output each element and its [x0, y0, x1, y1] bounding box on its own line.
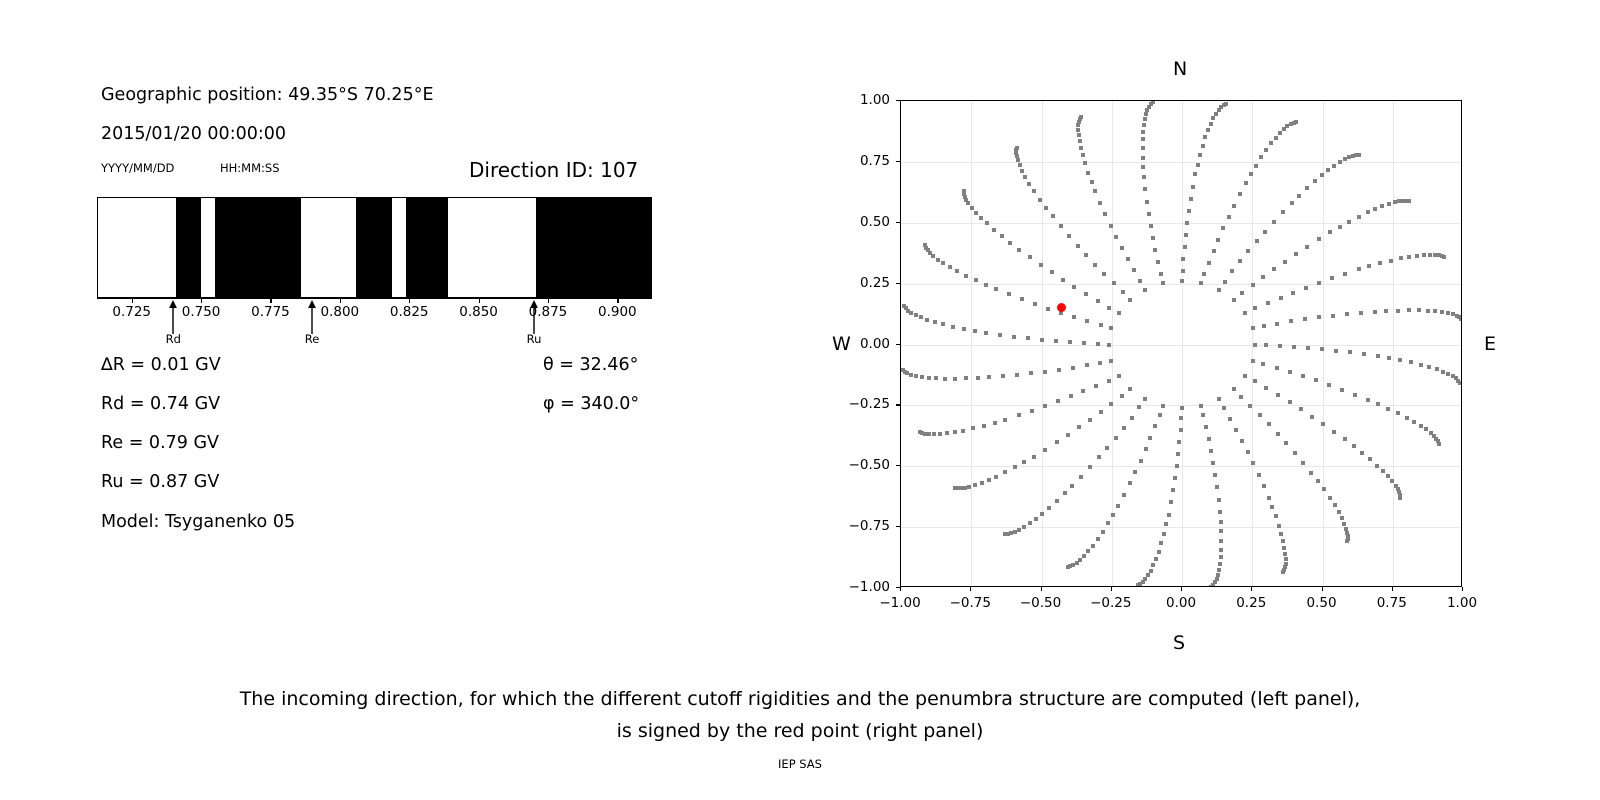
direction-point — [932, 432, 936, 436]
direction-point — [1327, 383, 1331, 387]
direction-point — [964, 376, 968, 380]
direction-point — [1281, 539, 1285, 543]
direction-point — [987, 478, 991, 482]
caption-line-2: is signed by the red point (right panel) — [0, 715, 1600, 747]
compass-label-east: E — [1484, 333, 1496, 355]
penumbra-bar-chart — [97, 197, 652, 298]
direction-point — [1121, 290, 1125, 294]
direction-point — [1215, 485, 1219, 489]
direction-point — [1028, 521, 1032, 525]
direction-point — [925, 318, 929, 322]
direction-point — [1338, 225, 1342, 229]
date-format-hint: YYYY/MM/DD — [101, 161, 174, 175]
direction-point — [1281, 570, 1285, 574]
direction-point — [1267, 496, 1271, 500]
direction-point — [1209, 122, 1213, 126]
direction-point — [971, 426, 975, 430]
direction-point — [1367, 264, 1371, 268]
direction-point — [1261, 275, 1265, 279]
direction-point — [1151, 101, 1155, 104]
direction-point — [901, 368, 905, 372]
direction-point — [1427, 365, 1431, 369]
direction-point — [1109, 402, 1113, 406]
y-axis-tick-label: 1.00 — [832, 92, 890, 108]
direction-point — [1459, 317, 1461, 321]
direction-point — [1264, 148, 1268, 152]
direction-point — [1317, 281, 1321, 285]
direction-point — [962, 189, 966, 193]
direction-point — [1253, 343, 1257, 347]
y-axis-tick — [896, 283, 900, 284]
direction-point — [1102, 272, 1106, 276]
direction-point — [1090, 180, 1094, 184]
direction-point — [1277, 524, 1281, 528]
direction-point — [1219, 555, 1223, 559]
direction-point — [1176, 452, 1180, 456]
direction-point — [1207, 261, 1211, 265]
direction-point — [1015, 373, 1019, 377]
direction-point — [1148, 436, 1152, 440]
x-axis-tick-label: 0.75 — [1377, 595, 1407, 611]
direction-point — [1218, 510, 1222, 514]
direction-point — [1289, 319, 1293, 323]
direction-point — [923, 243, 927, 247]
direction-point — [1399, 256, 1403, 260]
direction-point — [1169, 500, 1173, 504]
direction-point — [1343, 437, 1347, 441]
direction-point — [979, 216, 983, 220]
direction-point — [1012, 335, 1016, 339]
direction-point — [1143, 117, 1147, 121]
direction-point — [1264, 343, 1268, 347]
y-axis-tick-label: 0.75 — [832, 153, 890, 169]
direction-point — [1254, 164, 1258, 168]
y-axis-tick — [896, 161, 900, 162]
direction-point — [1224, 102, 1228, 106]
rigidity-marker-label-re: Re — [305, 332, 320, 346]
rigidity-marker-label-ru: Ru — [527, 332, 542, 346]
direction-point — [1288, 400, 1292, 404]
penumbra-tick-label: 0.800 — [320, 304, 359, 320]
direction-point — [1159, 541, 1163, 545]
direction-point — [1084, 253, 1088, 257]
parameter-row: Rd = 0.74 GV — [101, 394, 220, 414]
penumbra-band — [215, 198, 301, 297]
y-axis-tick-label: −1.00 — [832, 579, 890, 595]
gridline-horizontal — [901, 162, 1461, 163]
direction-point — [963, 486, 967, 490]
direction-point — [973, 329, 977, 333]
direction-point — [1141, 137, 1145, 141]
direction-point — [966, 201, 970, 205]
caption-line-1: The incoming direction, for which the di… — [0, 683, 1600, 715]
direction-point — [1034, 517, 1038, 521]
direction-point — [1292, 345, 1296, 349]
direction-point — [1173, 476, 1177, 480]
penumbra-tick — [270, 298, 271, 303]
direction-point — [953, 377, 957, 381]
penumbra-band — [176, 198, 201, 297]
footer-credit: IEP SAS — [0, 757, 1600, 771]
direction-point — [1217, 568, 1221, 572]
direction-point — [1142, 123, 1146, 127]
direction-point — [1262, 484, 1266, 488]
direction-point — [1217, 397, 1221, 401]
direction-point — [1071, 366, 1075, 370]
direction-point — [987, 375, 991, 379]
direction-point — [918, 430, 922, 434]
x-axis-tick — [970, 587, 971, 591]
direction-point — [1219, 548, 1223, 552]
direction-point — [1442, 255, 1446, 259]
direction-point — [1340, 516, 1344, 520]
direction-point — [1159, 272, 1163, 276]
direction-point — [1440, 310, 1444, 314]
direction-point — [980, 481, 984, 485]
direction-point — [1198, 153, 1202, 157]
direction-point — [1077, 133, 1081, 137]
direction-point — [1093, 189, 1097, 193]
direction-point — [1051, 214, 1055, 218]
direction-point — [1360, 451, 1364, 455]
direction-point — [1143, 288, 1147, 292]
compass-label-north: N — [1173, 58, 1187, 80]
direction-point — [1153, 248, 1157, 252]
direction-point — [1047, 506, 1051, 510]
direction-point — [1107, 343, 1111, 347]
direction-point — [1109, 326, 1113, 330]
direction-point — [1017, 413, 1021, 417]
direction-point — [1347, 220, 1351, 224]
direction-point — [1294, 252, 1298, 256]
direction-point — [1196, 163, 1200, 167]
direction-point — [1258, 413, 1262, 417]
direction-point — [1114, 235, 1118, 239]
direction-point — [1193, 172, 1197, 176]
direction-point — [1157, 550, 1161, 554]
direction-point — [1375, 464, 1379, 468]
direction-point — [1117, 374, 1121, 378]
direction-point — [1177, 440, 1181, 444]
direction-point — [1144, 112, 1148, 116]
direction-point — [1331, 314, 1335, 318]
direction-point — [1082, 341, 1086, 345]
direction-point — [1275, 366, 1279, 370]
direction-point — [982, 424, 986, 428]
direction-point — [962, 327, 966, 331]
direction-point — [1246, 249, 1250, 253]
x-axis-tick — [1041, 587, 1042, 591]
direction-point — [1162, 532, 1166, 536]
direction-point — [1415, 254, 1419, 258]
direction-point — [1279, 296, 1283, 300]
direction-point — [1282, 546, 1286, 550]
direction-point — [1015, 146, 1019, 150]
direction-point — [1272, 267, 1276, 271]
direction-point — [1061, 278, 1065, 282]
direction-point — [1251, 461, 1255, 465]
direction-point — [1255, 239, 1259, 243]
direction-point — [1086, 549, 1090, 553]
direction-point — [1083, 161, 1087, 165]
x-axis-tick-label: −0.25 — [1090, 595, 1131, 611]
direction-point — [1078, 558, 1082, 562]
polar-scatter-plot — [900, 100, 1462, 587]
direction-point — [1096, 537, 1100, 541]
direction-point — [1055, 499, 1059, 503]
direction-point — [1405, 416, 1409, 420]
direction-point — [1446, 311, 1450, 315]
direction-point — [1056, 399, 1060, 403]
direction-point — [1109, 224, 1113, 228]
direction-point — [1278, 131, 1282, 135]
direction-point — [1106, 521, 1110, 525]
direction-point — [938, 432, 942, 436]
direction-point — [1297, 194, 1301, 198]
direction-point — [1093, 263, 1097, 267]
direction-point — [1038, 198, 1042, 202]
direction-point — [1180, 279, 1184, 283]
direction-point — [1262, 324, 1266, 328]
direction-point — [1128, 298, 1132, 302]
direction-point — [1316, 479, 1320, 483]
direction-point — [1149, 569, 1153, 573]
direction-point — [1380, 204, 1384, 208]
direction-point — [1143, 397, 1147, 401]
direction-point — [1214, 112, 1218, 116]
direction-point — [994, 287, 998, 291]
direction-point — [1340, 388, 1344, 392]
x-axis-tick — [1111, 587, 1112, 591]
direction-point — [1213, 473, 1217, 477]
direction-point — [1063, 491, 1067, 495]
direction-point — [955, 269, 959, 273]
direction-point — [1276, 393, 1280, 397]
direction-point — [1398, 496, 1402, 500]
direction-point — [1223, 280, 1227, 284]
direction-point — [920, 375, 924, 379]
direction-point — [1105, 446, 1109, 450]
direction-point — [1301, 374, 1305, 378]
direction-point — [1251, 283, 1255, 287]
direction-point — [1000, 234, 1004, 238]
direction-point — [998, 333, 1002, 337]
direction-point — [1212, 249, 1216, 253]
direction-point — [1043, 404, 1047, 408]
penumbra-tick — [201, 298, 202, 303]
direction-point — [1147, 212, 1151, 216]
direction-point — [1301, 461, 1305, 465]
direction-point — [1109, 359, 1113, 363]
direction-point — [1044, 206, 1048, 210]
direction-point — [1017, 528, 1021, 532]
y-axis-tick — [896, 344, 900, 345]
direction-point — [1317, 315, 1321, 319]
parameter-row: Re = 0.79 GV — [101, 433, 219, 453]
direction-point — [1216, 238, 1220, 242]
direction-point — [1055, 440, 1059, 444]
direction-point — [1032, 189, 1036, 193]
direction-point — [927, 376, 931, 380]
direction-point — [1141, 165, 1145, 169]
penumbra-band — [356, 198, 392, 297]
direction-point — [1112, 281, 1116, 285]
direction-point — [1001, 374, 1005, 378]
direction-point — [1161, 404, 1165, 408]
direction-point — [1270, 505, 1274, 509]
direction-point — [1441, 370, 1445, 374]
y-axis-tick — [896, 587, 900, 588]
direction-point — [1096, 299, 1100, 303]
direction-point — [1154, 557, 1158, 561]
y-axis-tick-label: −0.25 — [832, 396, 890, 412]
direction-point — [1067, 234, 1071, 238]
direction-point — [1091, 544, 1095, 548]
direction-point — [1373, 207, 1377, 211]
gridline-vertical — [971, 101, 972, 586]
direction-point — [1283, 260, 1287, 264]
direction-point — [1138, 279, 1142, 283]
direction-point — [1023, 175, 1027, 179]
direction-point — [1120, 246, 1124, 250]
direction-point — [1153, 424, 1157, 428]
direction-point — [1151, 236, 1155, 240]
direction-point — [902, 304, 906, 308]
direction-point — [1409, 360, 1413, 364]
y-axis-tick-label: −0.75 — [832, 518, 890, 534]
direction-point — [1310, 415, 1314, 419]
direction-point — [1227, 215, 1231, 219]
direction-point — [953, 486, 957, 490]
direction-point — [1343, 272, 1347, 276]
y-axis-tick-label: 0.00 — [832, 336, 890, 352]
direction-point — [1187, 209, 1191, 213]
direction-point — [993, 421, 997, 425]
direction-point — [1007, 292, 1011, 296]
direction-point — [1072, 285, 1076, 289]
direction-point — [1253, 306, 1257, 310]
direction-point — [1128, 387, 1132, 391]
direction-point — [1066, 433, 1070, 437]
direction-point — [1373, 310, 1377, 314]
direction-point — [1107, 379, 1111, 383]
direction-point — [1257, 473, 1261, 477]
direction-point — [1130, 416, 1134, 420]
direction-point — [1098, 361, 1102, 365]
direction-point — [1217, 498, 1221, 502]
direction-point — [1022, 525, 1026, 529]
direction-point — [1072, 315, 1076, 319]
direction-point — [1204, 425, 1208, 429]
direction-point — [1266, 301, 1270, 305]
direction-point — [1274, 514, 1278, 518]
x-axis-tick — [1392, 587, 1393, 591]
direction-point — [1218, 562, 1222, 566]
direction-point — [1366, 398, 1370, 402]
direction-point — [1077, 425, 1081, 429]
penumbra-tick-label: 0.850 — [459, 304, 498, 320]
direction-point — [1122, 493, 1126, 497]
direction-point — [1407, 255, 1411, 259]
direction-point — [1366, 210, 1370, 214]
direction-point — [1084, 292, 1088, 296]
direction-point — [1328, 230, 1332, 234]
direction-point — [1017, 248, 1021, 252]
direction-point — [1209, 449, 1213, 453]
direction-point — [1433, 309, 1437, 313]
penumbra-tick-label: 0.725 — [112, 304, 151, 320]
direction-id-label: Direction ID: 107 — [469, 158, 638, 182]
direction-point — [1381, 469, 1385, 473]
direction-point — [1008, 241, 1012, 245]
direction-point — [1179, 428, 1183, 432]
direction-point — [1076, 244, 1080, 248]
direction-point — [1219, 539, 1223, 543]
direction-point — [1278, 344, 1282, 348]
direction-point — [1279, 532, 1283, 536]
direction-point — [1201, 413, 1205, 417]
direction-point — [1098, 201, 1102, 205]
y-axis-tick — [896, 404, 900, 405]
direction-point — [1389, 259, 1393, 263]
direction-point — [1272, 220, 1276, 224]
direction-point — [1057, 368, 1061, 372]
direction-point — [1283, 552, 1287, 556]
parameter-row: ∆R = 0.01 GV — [101, 355, 221, 375]
direction-point — [1016, 158, 1020, 162]
angle-row: θ = 32.46° — [543, 355, 638, 375]
figure-caption: The incoming direction, for which the di… — [0, 683, 1600, 747]
direction-point — [1207, 437, 1211, 441]
angle-row: φ = 340.0° — [543, 394, 639, 414]
direction-point — [1321, 422, 1325, 426]
direction-point — [1027, 182, 1031, 186]
direction-point — [1144, 447, 1148, 451]
direction-point — [1334, 349, 1338, 353]
direction-point — [1284, 441, 1288, 445]
x-axis-tick — [1462, 587, 1463, 591]
direction-point — [1251, 359, 1255, 363]
direction-point — [1164, 522, 1168, 526]
direction-point — [1261, 362, 1265, 366]
x-axis-tick-label: −0.50 — [1020, 595, 1061, 611]
direction-point — [985, 221, 989, 225]
direction-point — [1267, 422, 1271, 426]
direction-point — [1039, 263, 1043, 267]
direction-point — [1013, 530, 1017, 534]
direction-point — [967, 485, 971, 489]
direction-point — [1234, 428, 1238, 432]
direction-point — [1378, 261, 1382, 265]
direction-point — [1141, 156, 1145, 160]
compass-label-south: S — [1173, 632, 1185, 654]
x-axis-tick — [1322, 587, 1323, 591]
direction-point — [1079, 115, 1083, 119]
direction-point — [1368, 457, 1372, 461]
direction-point — [1345, 312, 1349, 316]
direction-point — [1185, 221, 1189, 225]
direction-point — [1082, 554, 1086, 558]
direction-point — [984, 331, 988, 335]
x-axis-tick-label: −1.00 — [879, 595, 920, 611]
penumbra-tick — [409, 298, 410, 303]
direction-point — [1099, 410, 1103, 414]
direction-point — [1281, 210, 1285, 214]
direction-point — [1376, 402, 1380, 406]
direction-point — [1003, 532, 1007, 536]
direction-point — [1232, 387, 1236, 391]
direction-point — [933, 320, 937, 324]
